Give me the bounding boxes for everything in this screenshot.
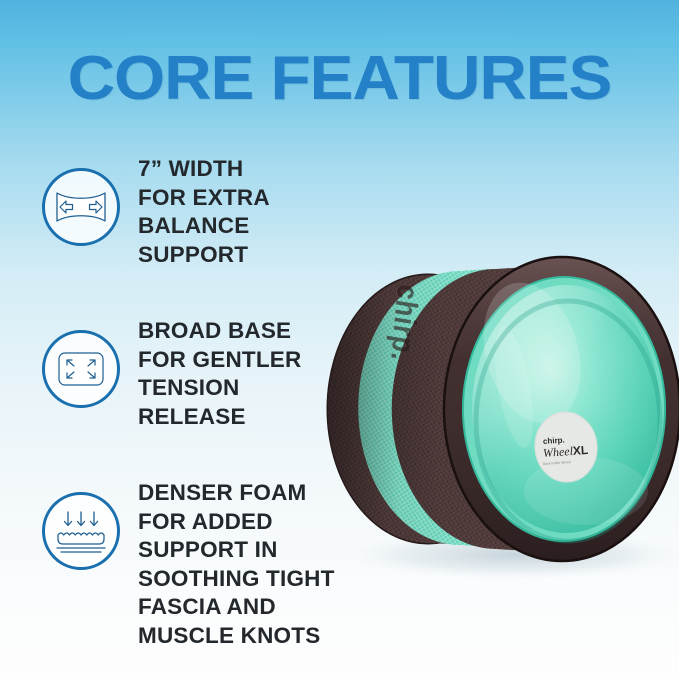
feature-line: SOOTHING TIGHT <box>138 565 335 594</box>
feature-icon-wrap <box>42 168 120 246</box>
feature-line: BROAD BASE <box>138 317 301 346</box>
feature-line: DENSER FOAM <box>138 479 335 508</box>
feature-item-broad-base: BROAD BASE FOR GENTLER TENSION RELEASE <box>0 312 360 431</box>
feature-line: SUPPORT IN <box>138 536 335 565</box>
feature-line: FASCIA AND <box>138 593 335 622</box>
feature-icon-wrap <box>42 330 120 408</box>
feature-icon-wrap <box>42 492 120 570</box>
feature-line: FOR ADDED <box>138 508 335 537</box>
feature-text-broad-base: BROAD BASE FOR GENTLER TENSION RELEASE <box>138 312 301 431</box>
feature-line: BALANCE <box>138 212 270 241</box>
foam-compression-icon <box>42 492 120 570</box>
feature-line: FOR GENTLER <box>138 346 301 375</box>
feature-item-denser-foam: DENSER FOAM FOR ADDED SUPPORT IN SOOTHIN… <box>0 474 360 650</box>
feature-text-denser-foam: DENSER FOAM FOR ADDED SUPPORT IN SOOTHIN… <box>138 474 335 650</box>
feature-text-width: 7” WIDTH FOR EXTRA BALANCE SUPPORT <box>138 150 270 269</box>
expand-corners-icon <box>42 330 120 408</box>
feature-line: TENSION <box>138 374 301 403</box>
width-arrows-icon <box>42 168 120 246</box>
wheel-near-disc <box>444 257 679 561</box>
infographic-page: CORE FEATURES <box>0 0 679 679</box>
page-title: CORE FEATURES <box>0 48 679 110</box>
feature-line: 7” WIDTH <box>138 155 270 184</box>
feature-line: RELEASE <box>138 403 301 432</box>
feature-line: FOR EXTRA <box>138 184 270 213</box>
feature-line: MUSCLE KNOTS <box>138 622 335 651</box>
feature-line: SUPPORT <box>138 241 270 270</box>
feature-item-width: 7” WIDTH FOR EXTRA BALANCE SUPPORT <box>0 150 360 269</box>
